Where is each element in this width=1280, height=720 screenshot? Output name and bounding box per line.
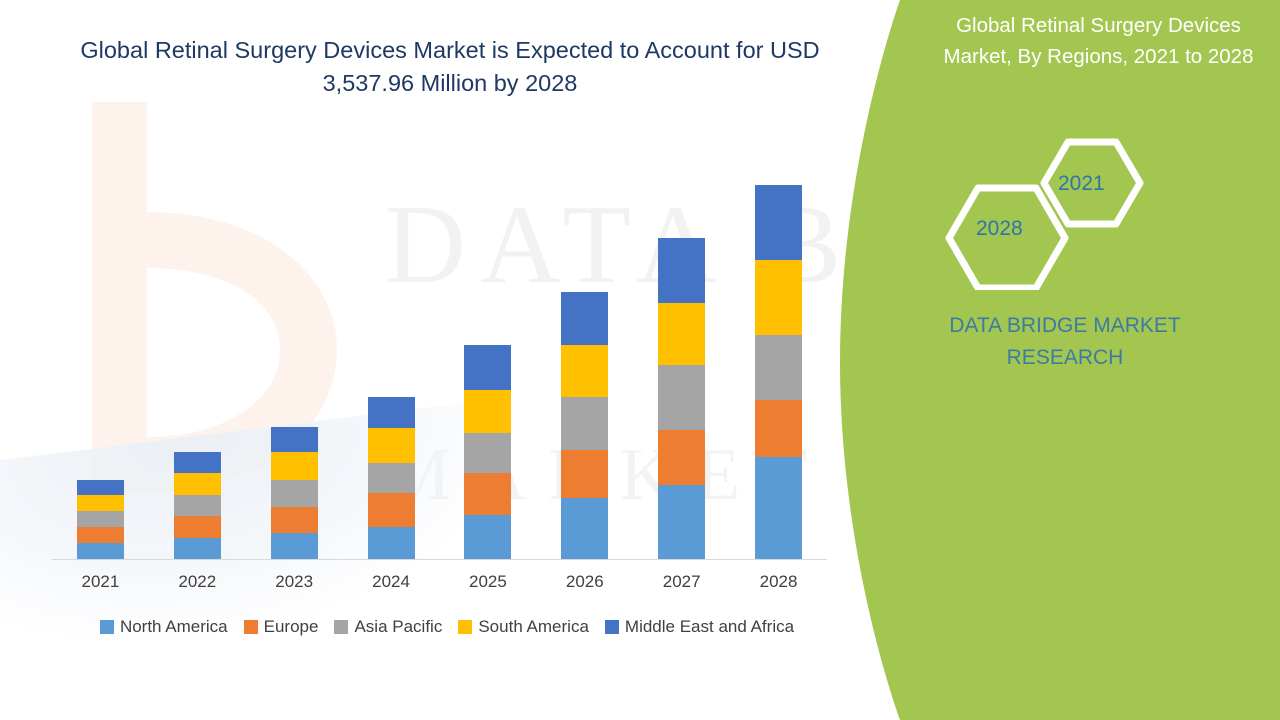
bar-column	[633, 121, 730, 559]
x-axis-line	[52, 559, 827, 560]
bar-stack	[271, 427, 318, 559]
bar-segment	[658, 485, 705, 559]
infographic-root: DATA BRIDGE MARKET RESEARCH Global Retin…	[0, 0, 1280, 720]
bar-column	[730, 121, 827, 559]
bar-stack	[561, 292, 608, 559]
bar-segment	[174, 473, 221, 495]
x-axis-tick-label: 2021	[52, 572, 149, 592]
hexagon-shapes-icon	[940, 130, 1170, 290]
legend-swatch-icon	[334, 620, 348, 634]
bar-stack	[174, 452, 221, 559]
legend-label: Middle East and Africa	[625, 617, 794, 637]
bar-segment	[271, 533, 318, 559]
bar-segment	[368, 463, 415, 493]
bar-segment	[755, 457, 802, 559]
bar-segment	[174, 516, 221, 538]
legend-swatch-icon	[605, 620, 619, 634]
legend-item[interactable]: South America	[458, 617, 589, 637]
chart-panel: DATA BRIDGE MARKET RESEARCH Global Retin…	[0, 0, 900, 720]
bar-segment	[561, 450, 608, 498]
legend-label: South America	[478, 617, 589, 637]
bar-segment	[561, 498, 608, 559]
bar-segment	[174, 538, 221, 559]
bar-segment	[464, 433, 511, 473]
plot-area	[52, 120, 827, 560]
bar-segment	[77, 511, 124, 527]
bar-segment	[77, 543, 124, 559]
legend-swatch-icon	[244, 620, 258, 634]
bar-segment	[271, 452, 318, 480]
legend-item[interactable]: North America	[100, 617, 228, 637]
legend-swatch-icon	[458, 620, 472, 634]
bar-segment	[368, 527, 415, 559]
bar-segment	[755, 185, 802, 260]
bar-segment	[755, 400, 802, 457]
bar-column	[343, 121, 440, 559]
chart-legend: North AmericaEuropeAsia PacificSouth Ame…	[52, 617, 842, 637]
bar-segment	[464, 515, 511, 559]
bar-column	[246, 121, 343, 559]
bar-segment	[77, 527, 124, 543]
legend-item[interactable]: Europe	[244, 617, 319, 637]
bar-segment	[271, 480, 318, 507]
bar-segment	[464, 473, 511, 515]
bar-segment	[77, 495, 124, 511]
bar-segment	[271, 507, 318, 533]
bar-segment	[658, 303, 705, 365]
x-axis-tick-label: 2028	[730, 572, 827, 592]
bar-segment	[464, 390, 511, 433]
bar-stack	[658, 238, 705, 559]
brand-name-text: DATA BRIDGE MARKET RESEARCH	[900, 310, 1230, 374]
bar-segment	[174, 495, 221, 516]
bar-segment	[464, 345, 511, 390]
bar-segment	[368, 493, 415, 527]
legend-label: Asia Pacific	[354, 617, 442, 637]
bar-stack	[464, 345, 511, 559]
bar-column	[149, 121, 246, 559]
bar-stack	[755, 185, 802, 559]
bar-segment	[658, 430, 705, 485]
legend-item[interactable]: Middle East and Africa	[605, 617, 794, 637]
bar-segment	[174, 452, 221, 473]
hexagon-label-2021: 2021	[1058, 172, 1105, 196]
bar-column	[440, 121, 537, 559]
bar-segment	[368, 397, 415, 428]
x-axis-labels: 20212022202320242025202620272028	[52, 572, 827, 592]
hexagon-group: 2021 2028	[940, 130, 1170, 290]
bar-segment	[755, 260, 802, 335]
bar-segment	[561, 397, 608, 450]
x-axis-tick-label: 2023	[246, 572, 343, 592]
bar-segment	[658, 365, 705, 430]
bar-column	[52, 121, 149, 559]
x-axis-tick-label: 2025	[440, 572, 537, 592]
legend-item[interactable]: Asia Pacific	[334, 617, 442, 637]
bar-segment	[561, 292, 608, 345]
bar-segment	[561, 345, 608, 397]
bar-segment	[368, 428, 415, 463]
legend-label: North America	[120, 617, 228, 637]
bar-column	[536, 121, 633, 559]
brand-panel-title: Global Retinal Surgery Devices Market, B…	[926, 10, 1271, 72]
brand-panel: Global Retinal Surgery Devices Market, B…	[840, 0, 1280, 720]
bar-segment	[658, 238, 705, 303]
x-axis-tick-label: 2022	[149, 572, 246, 592]
bar-segment	[755, 335, 802, 400]
bar-segment	[271, 427, 318, 452]
legend-label: Europe	[264, 617, 319, 637]
bar-segment	[77, 480, 124, 495]
x-axis-tick-label: 2027	[633, 572, 730, 592]
bar-stack	[368, 397, 415, 559]
hexagon-label-2028: 2028	[976, 217, 1023, 241]
bar-stack	[77, 480, 124, 559]
page-title: Global Retinal Surgery Devices Market is…	[60, 34, 840, 100]
bar-series-container	[52, 121, 827, 559]
x-axis-tick-label: 2024	[343, 572, 440, 592]
x-axis-tick-label: 2026	[536, 572, 633, 592]
legend-swatch-icon	[100, 620, 114, 634]
